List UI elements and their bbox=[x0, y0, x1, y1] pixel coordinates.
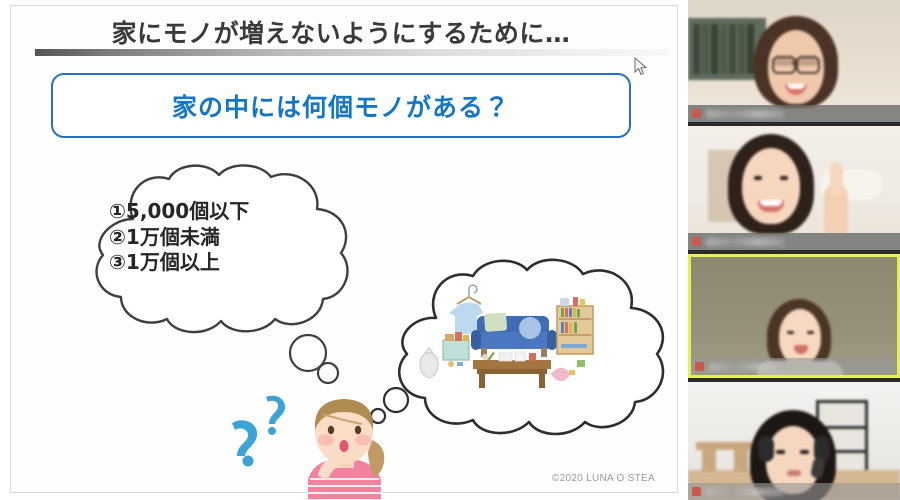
cloud-trail-bubbles-left bbox=[286, 331, 346, 391]
cloud-shape-room-icon bbox=[381, 256, 681, 441]
slide-title: 家にモノが増えないようにするために… bbox=[11, 14, 671, 50]
option-1: ①5,000個以下 bbox=[109, 199, 344, 225]
video-participants-panel bbox=[688, 0, 900, 500]
participant-1-video bbox=[688, 0, 900, 122]
mic-muted-icon bbox=[692, 237, 701, 246]
participant-2-name-blurred bbox=[706, 238, 784, 246]
participant-3-namebar bbox=[691, 358, 897, 375]
participant-tile-2[interactable] bbox=[688, 126, 900, 250]
mic-muted-icon bbox=[695, 362, 704, 371]
title-divider-bar bbox=[35, 49, 669, 56]
copyright-notice: ©2020 LUNA O STEA bbox=[552, 473, 655, 484]
participant-tile-4[interactable] bbox=[688, 382, 900, 500]
bookshelf-icon bbox=[557, 297, 593, 354]
screen: 家にモノが増えないようにするために… 家の中には何個モノがある？ ①5,000個… bbox=[0, 0, 900, 500]
participant-3-name-blurred bbox=[709, 363, 787, 371]
question-box: 家の中には何個モノがある？ bbox=[51, 73, 631, 138]
participant-1-name-blurred bbox=[706, 110, 784, 118]
participant-tile-1[interactable] bbox=[688, 0, 900, 122]
thought-cloud-options: ①5,000個以下 ②1万個未満 ③1万個以上 bbox=[71, 161, 371, 341]
option-3: ③1万個以上 bbox=[109, 250, 344, 276]
thought-cloud-messy-room bbox=[381, 256, 681, 441]
participant-2-video bbox=[688, 126, 900, 250]
participant-4-name-blurred bbox=[706, 488, 784, 496]
mic-muted-icon bbox=[692, 487, 701, 496]
presentation-slide-area: 家にモノが増えないようにするために… 家の中には何個モノがある？ ①5,000個… bbox=[0, 0, 688, 500]
slide-frame: 家にモノが増えないようにするために… 家の中には何個モノがある？ ①5,000個… bbox=[10, 5, 678, 493]
options-list: ①5,000個以下 ②1万個未満 ③1万個以上 bbox=[109, 199, 344, 276]
thinking-woman-icon bbox=[286, 388, 406, 500]
option-2: ②1万個未満 bbox=[109, 225, 344, 251]
question-box-text: 家の中には何個モノがある？ bbox=[172, 88, 510, 124]
mic-muted-icon bbox=[692, 109, 701, 118]
participant-2-namebar bbox=[688, 233, 900, 250]
participant-tile-3-active-speaker[interactable] bbox=[688, 254, 900, 378]
mouse-cursor-icon bbox=[634, 57, 648, 77]
participant-4-namebar bbox=[688, 483, 900, 500]
participant-1-namebar bbox=[688, 105, 900, 122]
